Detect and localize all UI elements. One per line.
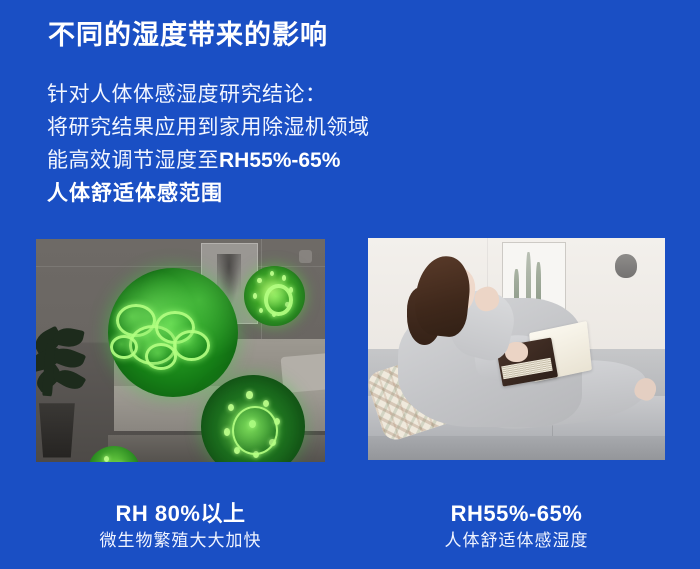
plant-pot bbox=[37, 403, 78, 457]
caption-comfort-humidity: RH55%-65% 人体舒适体感湿度 bbox=[368, 500, 665, 554]
humidity-infographic: 不同的湿度带来的影响 针对人体体感湿度研究结论： 将研究结果应用到家用除湿机领域… bbox=[0, 0, 700, 569]
caption-high-humidity: RH 80%以上 微生物繁殖大大加快 bbox=[36, 500, 325, 554]
body-copy: 针对人体体感湿度研究结论： 将研究结果应用到家用除湿机领域 能高效调节湿度至RH… bbox=[47, 78, 370, 210]
body-line-3: 能高效调节湿度至RH55%-65% bbox=[47, 144, 370, 177]
body-line-3-highlight: RH55%-65% bbox=[219, 149, 340, 172]
page-title: 不同的湿度带来的影响 bbox=[48, 19, 328, 51]
body-line-1: 针对人体体感湿度研究结论： bbox=[47, 78, 370, 111]
caption-subtitle: 微生物繁殖大大加快 bbox=[36, 528, 325, 554]
body-line-4: 人体舒适体感范围 bbox=[47, 177, 370, 210]
body-line-2: 将研究结果应用到家用除湿机领域 bbox=[47, 111, 370, 144]
wall-knob bbox=[299, 250, 312, 263]
caption-title: RH55%-65% bbox=[368, 500, 665, 528]
sofa-base bbox=[368, 436, 665, 460]
body-line-3-prefix: 能高效调节湿度至 bbox=[47, 149, 219, 172]
cactus-arm-right bbox=[536, 262, 540, 302]
caption-subtitle: 人体舒适体感湿度 bbox=[368, 528, 665, 554]
photo-comfort-humidity bbox=[368, 238, 665, 460]
wall-speaker bbox=[615, 254, 637, 278]
dark-room-scene bbox=[36, 239, 325, 462]
microbe-cluster-large bbox=[108, 268, 238, 397]
caption-title: RH 80%以上 bbox=[36, 500, 325, 528]
photo-high-humidity bbox=[36, 239, 325, 462]
potted-plant bbox=[36, 328, 94, 457]
light-room-scene bbox=[368, 238, 665, 460]
microbe-cluster-small bbox=[244, 266, 305, 326]
